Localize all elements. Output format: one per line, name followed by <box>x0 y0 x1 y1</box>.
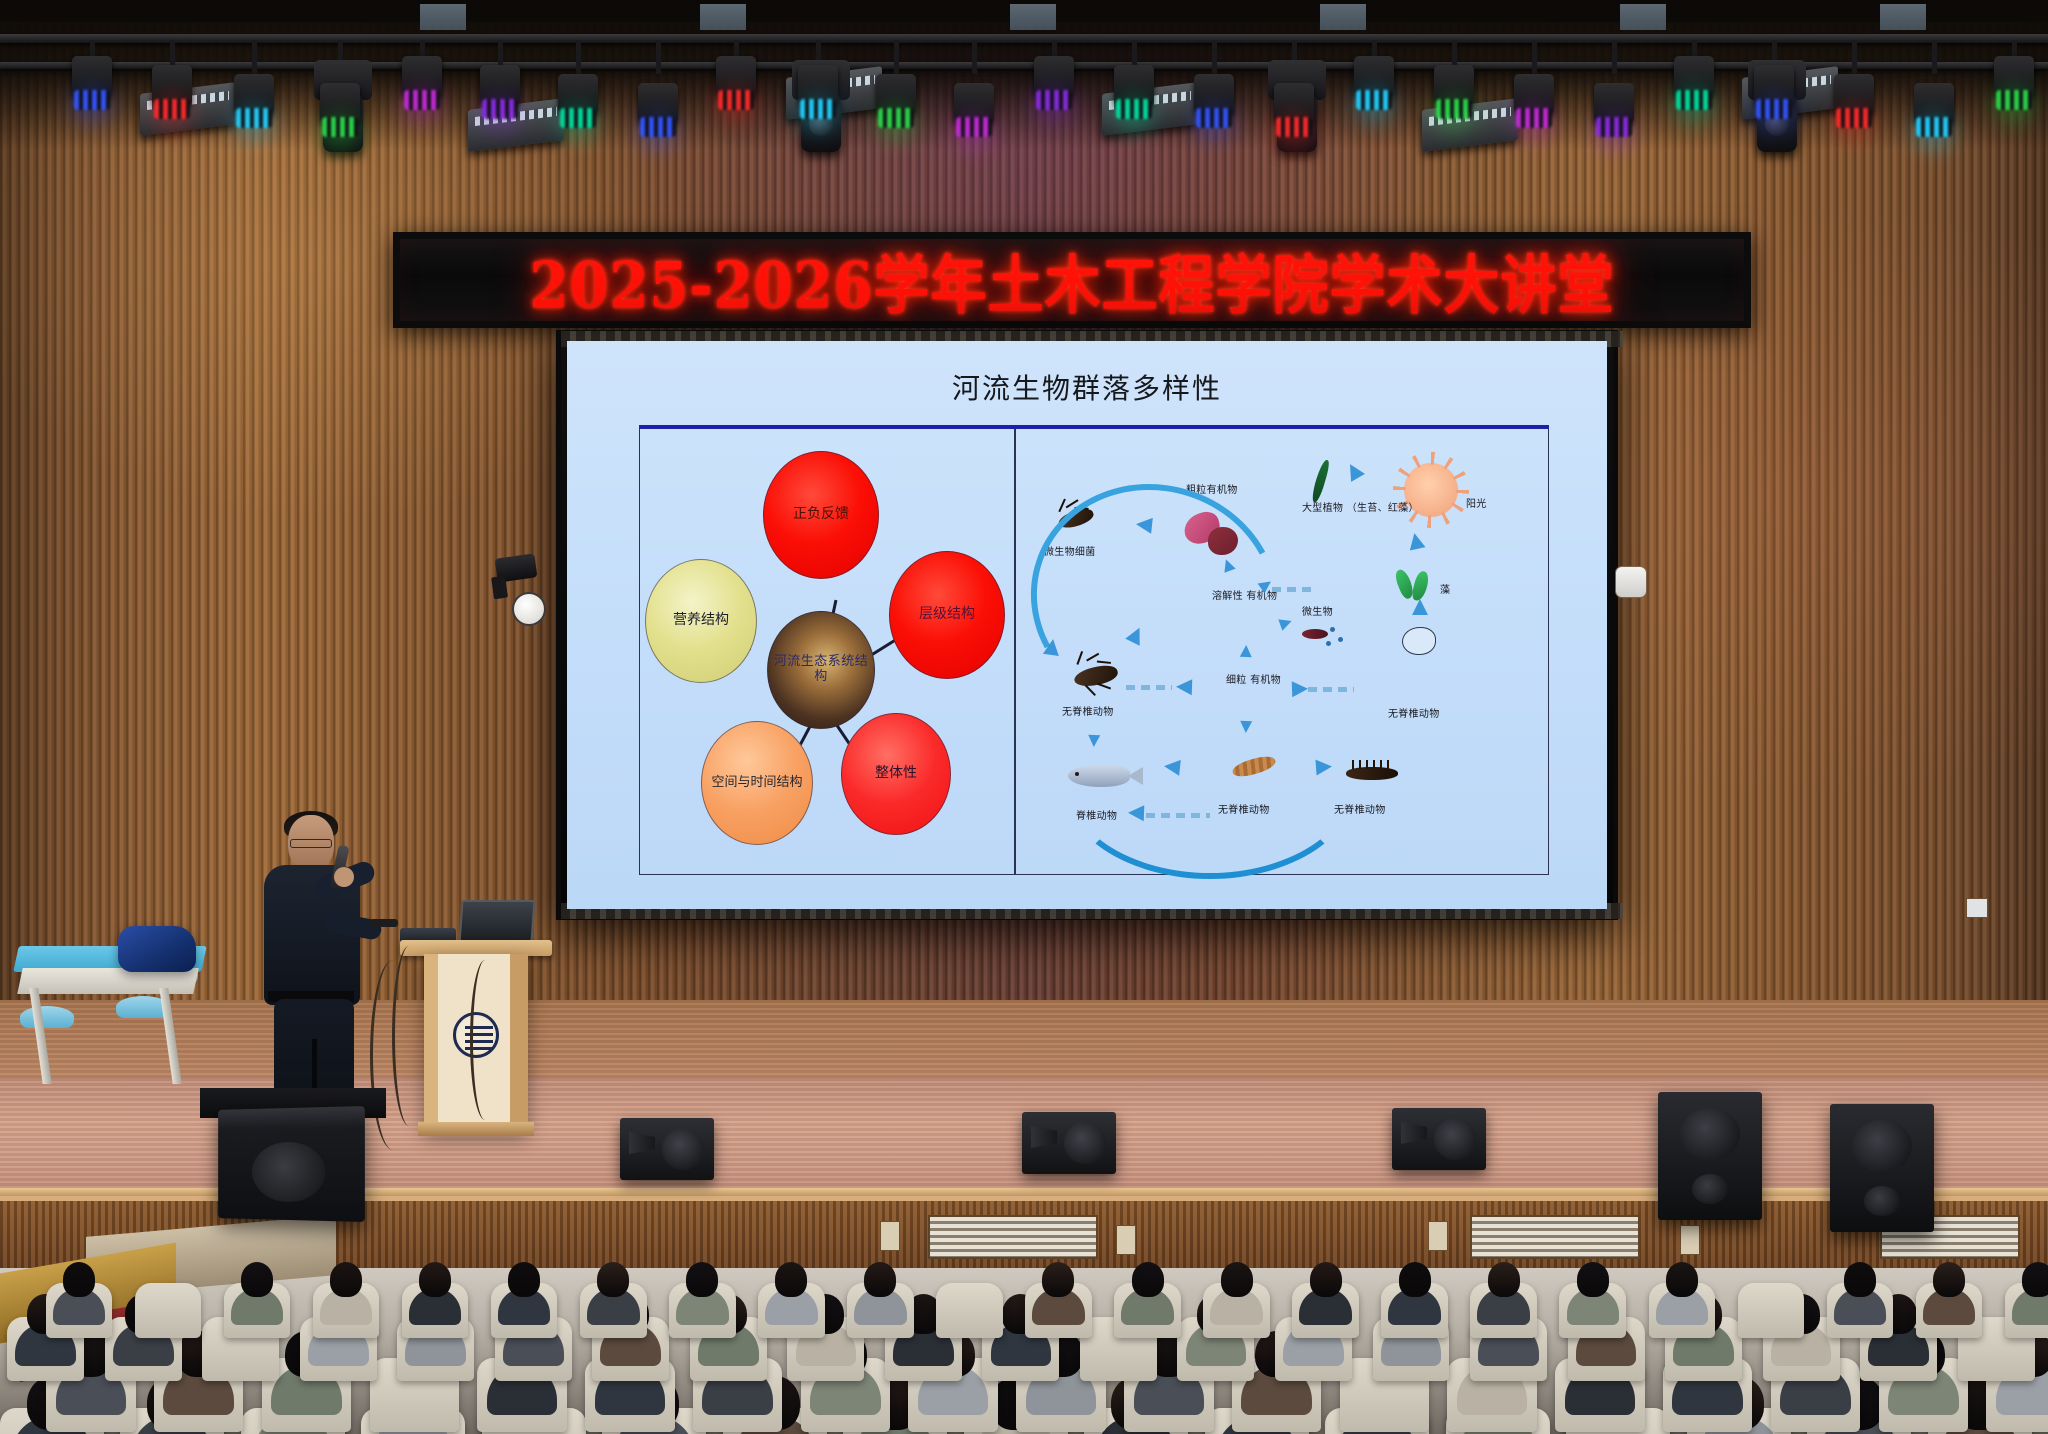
audience-member-head <box>1933 1262 1965 1297</box>
audience-seat[interactable] <box>1738 1283 1805 1338</box>
par-led-light <box>1592 83 1636 143</box>
concept-node-trophic-structure: 营养结构 <box>645 559 757 683</box>
truss-hanger <box>1532 40 1537 74</box>
audience-member-head <box>1666 1262 1698 1297</box>
truss-hanger <box>894 40 899 74</box>
flow-arrow <box>1292 681 1309 698</box>
ceiling-window <box>1320 4 1366 30</box>
microbe-icon <box>1302 629 1328 639</box>
audience-member-head <box>686 1262 718 1297</box>
presenter-hand <box>334 867 354 887</box>
audience-member-head <box>1132 1262 1164 1297</box>
concept-node-label: 空间与时间结构 <box>711 776 802 791</box>
flow-arrow <box>1407 532 1426 551</box>
audience-member-head <box>508 1262 540 1297</box>
stage-monitor <box>620 1118 714 1180</box>
stage-vent-grille <box>928 1215 1098 1259</box>
par-led-light <box>318 83 362 143</box>
concept-node-space-time-structure: 空间与时间结构 <box>701 721 813 845</box>
banner-text: 2025-2026学年土木工程学院学术大讲堂 <box>530 234 1615 326</box>
truss-bar-lower <box>0 62 2048 69</box>
wall-outlet-plate <box>1966 898 1988 918</box>
audience-member-head <box>1577 1262 1609 1297</box>
par-led-light <box>1432 65 1476 125</box>
par-led-light <box>556 74 600 134</box>
par-led-light <box>1912 83 1956 143</box>
ceiling-speaker-icon <box>512 592 546 626</box>
par-led-light <box>1352 56 1396 116</box>
truss-hanger <box>576 40 581 74</box>
par-led-light <box>1272 83 1316 143</box>
macrophyte-icon <box>1310 459 1331 504</box>
food-web-label-algae: 藻 <box>1440 585 1450 597</box>
truss-hanger <box>252 40 257 74</box>
audience-member-head <box>1488 1262 1520 1297</box>
presentation-slide: 河流生物群落多样性 正负反馈 层级结构 营养结构 <box>567 341 1607 909</box>
audience-member-head <box>63 1262 95 1297</box>
par-led-light <box>1992 56 2036 116</box>
par-led-light <box>1832 74 1876 134</box>
par-led-light <box>70 56 114 116</box>
concept-node-positive-negative-feedback: 正负反馈 <box>763 451 879 579</box>
concept-node-wholeness: 整体性 <box>841 713 951 835</box>
flow-arrow <box>1240 645 1252 657</box>
par-led-light <box>478 65 522 125</box>
concept-map: 正负反馈 层级结构 营养结构 空间与时间结构 整体性 河流生态系统结构 <box>639 429 1014 875</box>
stage-vent-grille <box>1470 1215 1640 1259</box>
ceiling-window <box>420 4 466 30</box>
food-web-diagram: 阳光 大型植物 （生苔、红藻） 藻 粗粒有机物 微生物细菌 <box>1016 429 1549 875</box>
audience-member-head <box>1310 1262 1342 1297</box>
laptop-screen <box>459 900 536 942</box>
par-led-light <box>1192 74 1236 134</box>
stage-floor-outlet <box>1428 1221 1448 1251</box>
ceiling-window <box>1620 4 1666 30</box>
concept-node-label: 层级结构 <box>919 607 975 623</box>
pa-speaker <box>1658 1092 1762 1220</box>
flow-arrow <box>1043 638 1061 656</box>
av-cable <box>470 960 500 1120</box>
audience-seat[interactable] <box>936 1283 1003 1338</box>
audience-member-head <box>597 1262 629 1297</box>
par-led-light <box>232 74 276 134</box>
flow-dashed-link <box>1308 687 1354 692</box>
ceiling-window <box>700 4 746 30</box>
nutrient-cycle-arc-bottom <box>1060 679 1360 879</box>
flow-dashed-link <box>1272 587 1314 592</box>
par-led-light <box>874 74 918 134</box>
flow-arrow <box>1343 460 1365 482</box>
wall-control-panel[interactable] <box>1615 566 1647 598</box>
concept-node-center: 河流生态系统结构 <box>767 611 875 729</box>
algae-icon <box>1411 570 1431 602</box>
flow-arrow <box>1278 615 1293 630</box>
par-led-light <box>1112 65 1156 125</box>
zooplankton-icon <box>1402 627 1436 655</box>
audience-member-head <box>241 1262 273 1297</box>
flow-arrow <box>1412 599 1428 615</box>
audience-member-head <box>1844 1262 1876 1297</box>
par-led-light <box>1672 56 1716 116</box>
stage-floor-outlet <box>1680 1225 1700 1255</box>
par-led-light <box>150 65 194 125</box>
audience-member-head <box>1042 1262 1074 1297</box>
glasses-icon <box>290 839 332 848</box>
ceiling-window <box>1880 4 1926 30</box>
audience <box>0 1254 2048 1434</box>
concept-node-label: 营养结构 <box>673 613 729 629</box>
par-led-light <box>1512 74 1556 134</box>
par-led-light <box>1032 56 1076 116</box>
audience-member-head <box>330 1262 362 1297</box>
truss-hanger <box>1212 40 1217 74</box>
stage-floor-outlet <box>880 1221 900 1251</box>
food-web-label-microbe: 微生物 <box>1302 607 1333 619</box>
truss-bar-upper <box>0 34 2048 43</box>
projection-screen: 河流生物群落多样性 正负反馈 层级结构 营养结构 <box>556 330 1618 920</box>
stage-monitor <box>1392 1108 1486 1170</box>
concept-center-label: 河流生态系统结构 <box>768 655 874 684</box>
par-led-light <box>400 56 444 116</box>
truss-hanger <box>1612 40 1617 74</box>
speaker-cone <box>252 1142 325 1203</box>
food-web-label-dissolved-organic-matter: 溶解性 有机物 <box>1212 591 1277 603</box>
audience-member-head <box>419 1262 451 1297</box>
lecture-hall-scene: 2025-2026学年土木工程学院学术大讲堂 河流生物群落多样性 正负反馈 层 <box>0 0 2048 1434</box>
pa-speaker <box>1830 1104 1934 1232</box>
concept-node-label: 正负反馈 <box>793 507 849 523</box>
par-led-light <box>1752 65 1796 125</box>
food-web-label-sunlight: 阳光 <box>1466 499 1487 511</box>
truss-hanger <box>1932 40 1937 74</box>
slide-title: 河流生物群落多样性 <box>567 367 1607 407</box>
audience-member-head <box>775 1262 807 1297</box>
audience-member-head <box>1399 1262 1431 1297</box>
audience-member-head <box>2022 1262 2048 1297</box>
food-web-label-macrophytes: 大型植物 （生苔、红藻） <box>1302 503 1419 516</box>
concept-node-label: 整体性 <box>875 766 917 782</box>
audience-seat[interactable] <box>135 1283 202 1338</box>
truss-hanger <box>1852 40 1857 74</box>
concept-node-hierarchy-structure: 层级结构 <box>889 551 1005 679</box>
presentation-clicker <box>370 919 398 927</box>
audience-member-head <box>1221 1262 1253 1297</box>
truss-hanger <box>972 40 977 74</box>
led-banner: 2025-2026学年土木工程学院学术大讲堂 <box>393 232 1751 328</box>
food-web-label-invertebrate: 无脊椎动物 <box>1388 709 1440 721</box>
par-led-light <box>796 65 840 125</box>
par-led-light <box>714 56 758 116</box>
par-led-light <box>636 83 680 143</box>
subwoofer-cabinet <box>218 1106 365 1222</box>
par-led-light <box>952 83 996 143</box>
truss-hanger <box>656 40 661 74</box>
podium-base <box>418 1122 534 1136</box>
blue-jacket <box>118 926 196 972</box>
ceiling-window <box>1010 4 1056 30</box>
stage-floor-outlet <box>1116 1225 1136 1255</box>
stage-monitor <box>1022 1112 1116 1174</box>
audience-member-head <box>864 1262 896 1297</box>
chair-seat <box>20 1006 74 1028</box>
